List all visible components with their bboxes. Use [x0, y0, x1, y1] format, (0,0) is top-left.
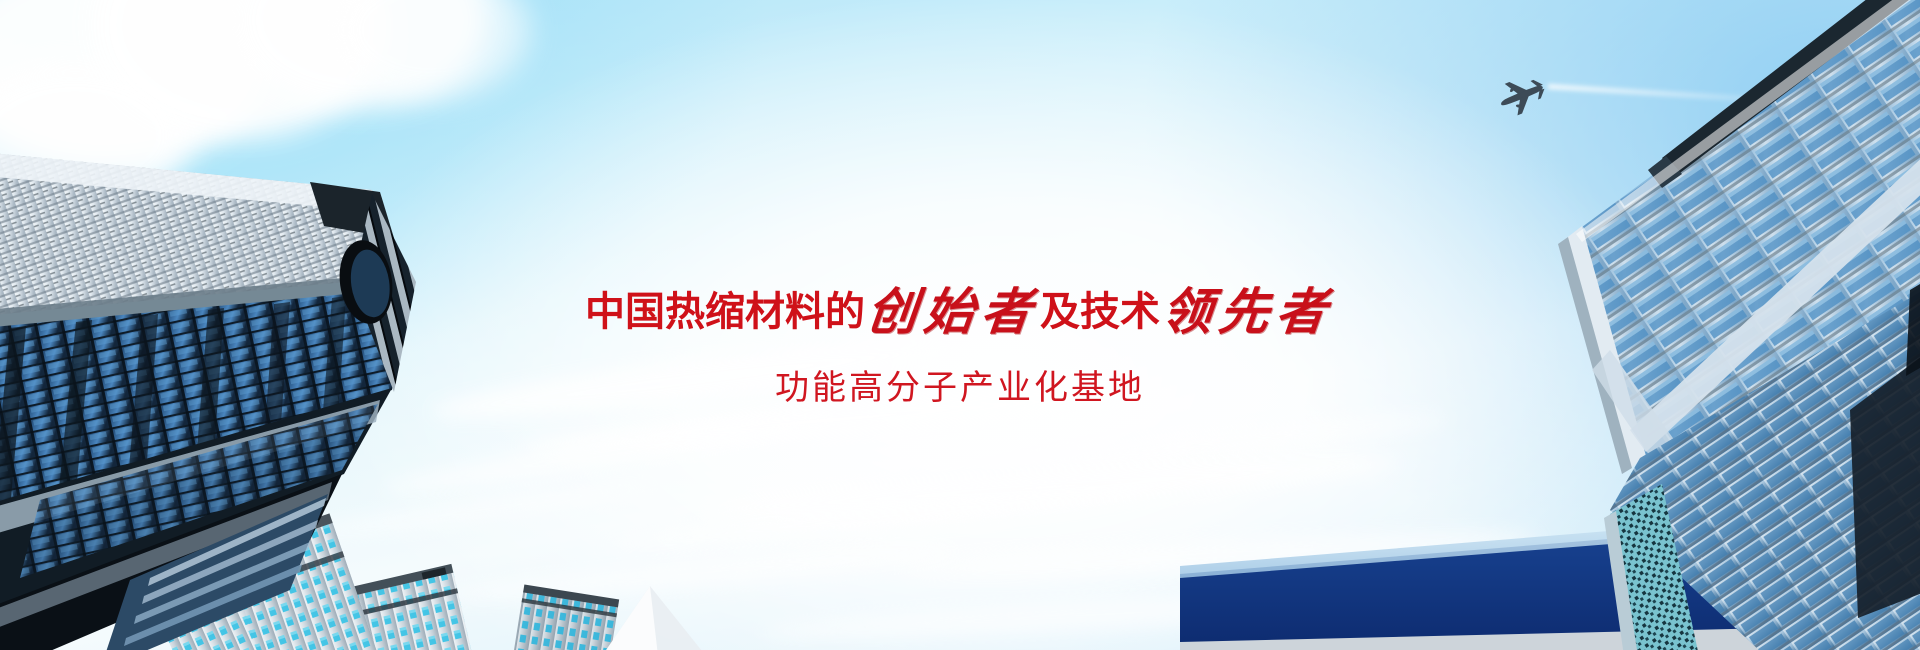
dark-glass-skyscraper	[0, 70, 440, 650]
blue-glass-skyscraper	[1310, 0, 1920, 650]
hero-banner: 中国热缩材料的创始者及技术领先者 功能高分子产业化基地	[0, 0, 1920, 650]
